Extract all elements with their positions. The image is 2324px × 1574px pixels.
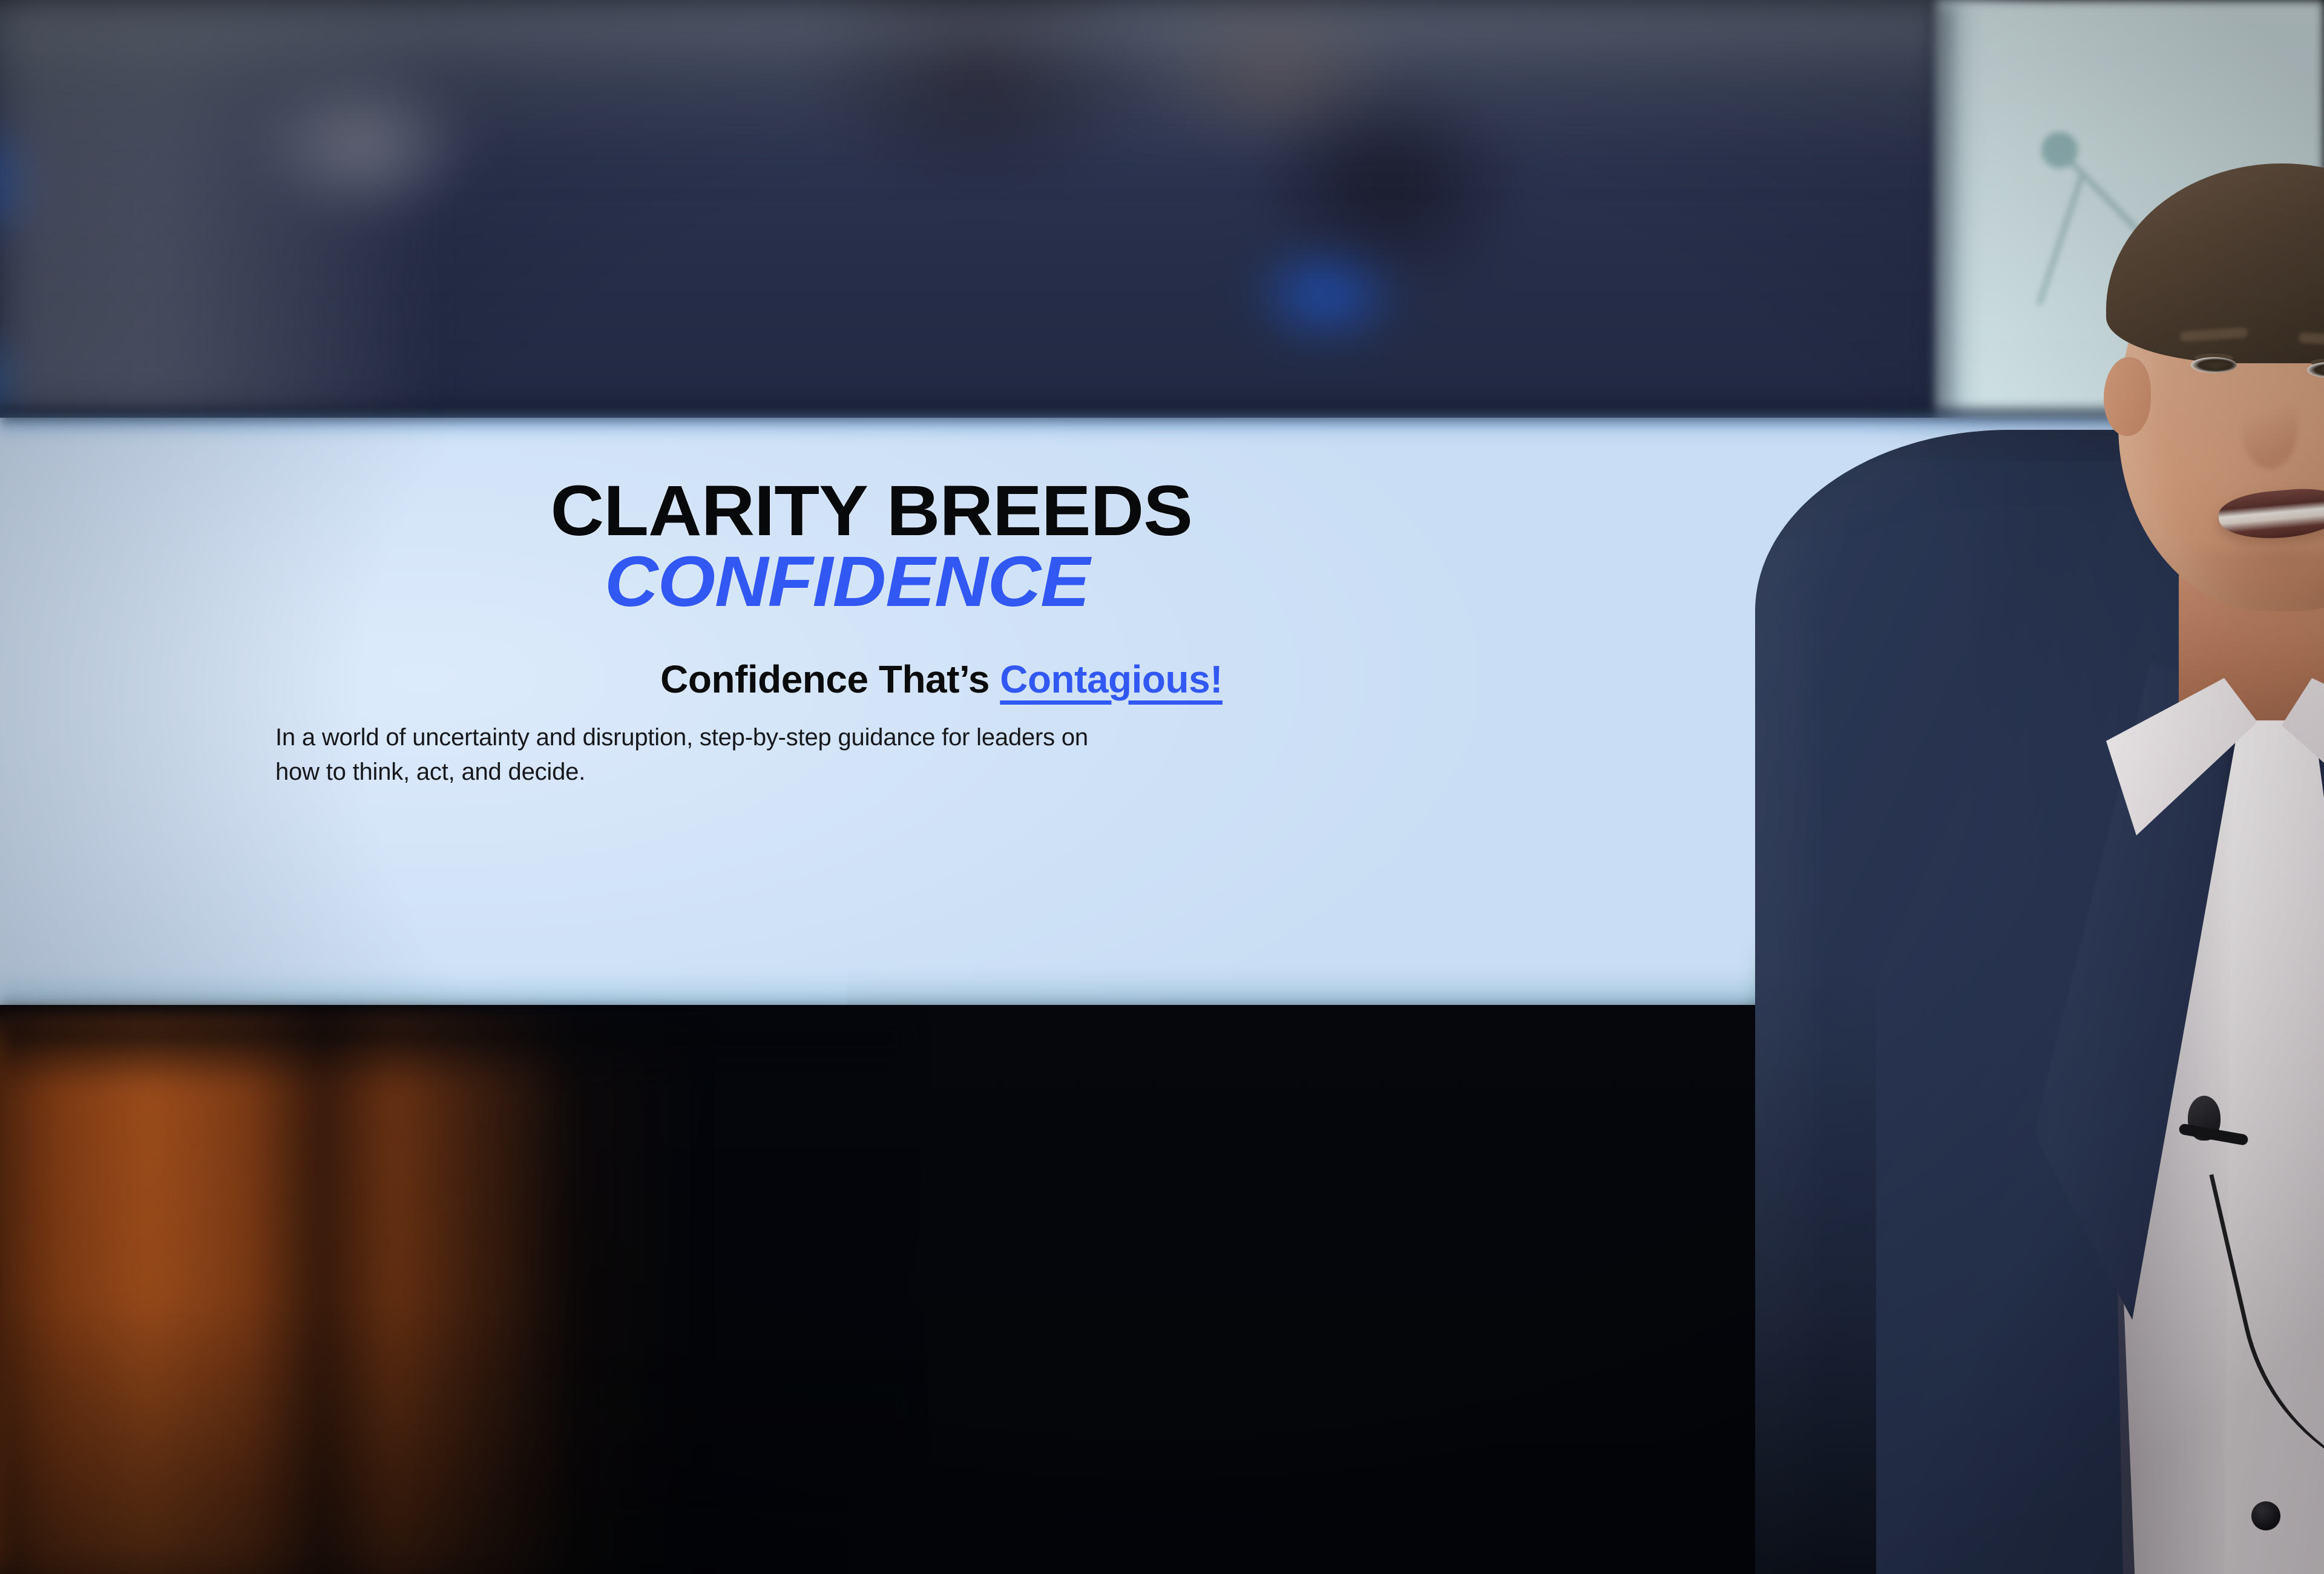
jacket-button [2251, 1501, 2280, 1530]
curtain-shading [0, 1023, 908, 1574]
eye-left [2191, 357, 2237, 373]
nose [2242, 387, 2297, 469]
ear [2104, 357, 2151, 436]
chin-shadow [2179, 551, 2324, 630]
presentation-stage-scene: CLARITY BREEDS CONFIDENCE Confidence Tha… [0, 0, 2324, 1574]
lower-scene-falloff [847, 969, 1876, 1574]
